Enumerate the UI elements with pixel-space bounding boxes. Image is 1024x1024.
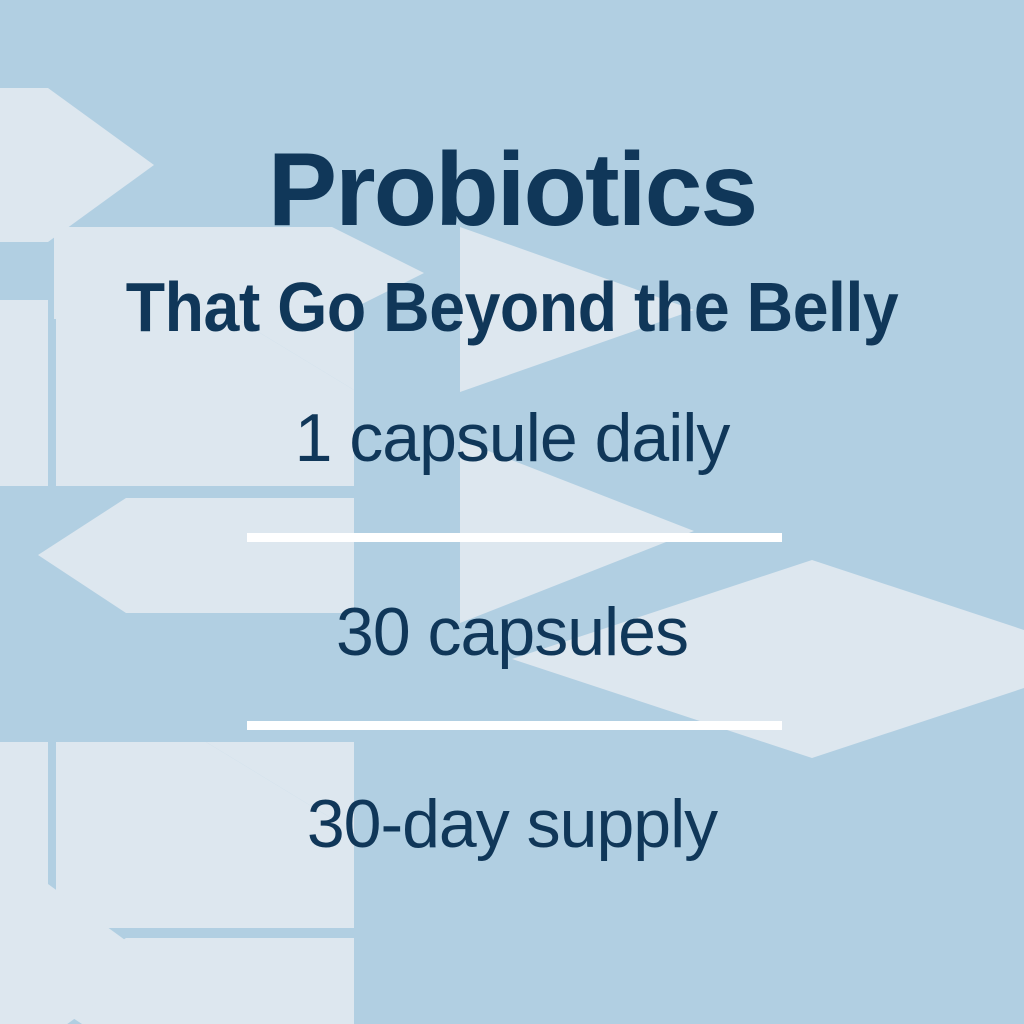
fact-capsule-count: 30 capsules: [0, 598, 1024, 666]
divider-above-capsule-count: [247, 533, 782, 542]
page-title: Probiotics: [0, 138, 1024, 242]
page-subtitle: That Go Beyond the Belly: [41, 272, 983, 342]
fact-dosage: 1 capsule daily: [0, 404, 1024, 472]
promo-graphic: Probiotics That Go Beyond the Belly 1 ca…: [0, 0, 1024, 1024]
divider-below-capsule-count: [247, 721, 782, 730]
fact-supply-duration: 30-day supply: [0, 790, 1024, 858]
